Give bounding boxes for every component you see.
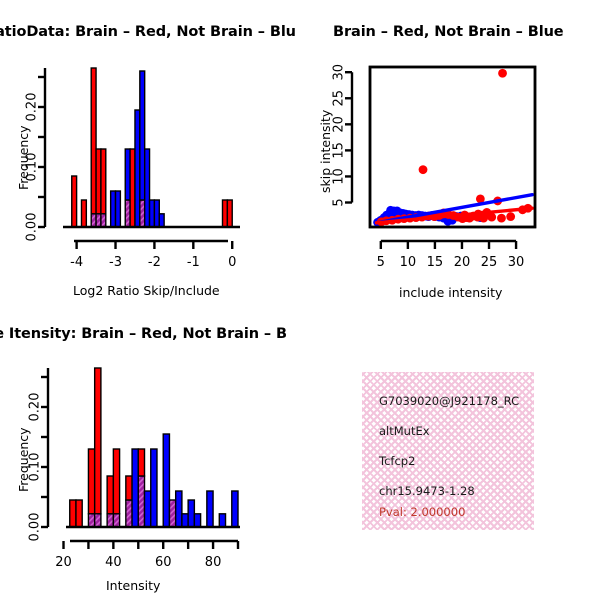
hist-bar (126, 500, 132, 527)
y-tick-label: 0.10 (25, 153, 40, 182)
y-tick-label: 10 (332, 168, 347, 185)
scatter-xlabel: include intensity (399, 285, 502, 300)
hist-bar (140, 200, 145, 227)
hist-bar (132, 449, 138, 527)
scatter-plot: 5510101515202025253030 (300, 55, 600, 265)
x-tick-label: 20 (454, 255, 471, 270)
scatter-point (506, 212, 515, 221)
y-tick-label: 30 (332, 64, 347, 81)
scatter-point (497, 214, 506, 223)
info-event-type: altMutEx (379, 424, 430, 438)
hist-bar (116, 191, 121, 227)
scatter-point (393, 206, 402, 215)
info-gene: Tcfcp2 (379, 454, 415, 468)
y-tick-label: 0.00 (25, 213, 40, 242)
scatter-point (479, 214, 488, 223)
hist-bar (126, 476, 132, 500)
x-tick-label: 15 (427, 255, 444, 270)
hist-intensity-title: ne Itensity: Brain – Red, Not Brain – B (0, 326, 287, 342)
scatter-point (498, 69, 507, 78)
x-tick-label: -4 (70, 255, 83, 270)
y-tick-label: 15 (332, 142, 347, 159)
hist-bar (72, 176, 77, 227)
x-tick-label: 25 (481, 255, 498, 270)
hist-bar (227, 200, 232, 227)
y-tick-label: 0.20 (25, 93, 40, 122)
hist-bar (154, 200, 159, 227)
scatter-title: Brain – Red, Not Brain – Blue (333, 24, 564, 40)
hist-bar (96, 149, 101, 214)
hist-bar (163, 434, 169, 527)
hist-bar (81, 200, 86, 227)
x-tick-label: 80 (205, 555, 222, 570)
info-box: G7039020@J921178_RC altMutEx Tcfcp2 chr1… (362, 372, 534, 530)
hist-intensity-plot: 0.000.100.2020406080 (0, 355, 260, 565)
hist-bar (88, 449, 94, 514)
scatter-point (419, 165, 428, 174)
x-tick-label: 40 (105, 555, 122, 570)
x-tick-label: 30 (508, 255, 525, 270)
plot-frame (370, 67, 535, 227)
info-pval: Pval: 2.000000 (379, 505, 465, 519)
x-tick-label: 0 (228, 255, 236, 270)
hist-bar (113, 514, 119, 527)
hist-bar (125, 200, 130, 227)
x-tick-label: 20 (55, 555, 72, 570)
hist-bar (188, 500, 194, 527)
y-tick-label: 5 (332, 198, 347, 206)
hist-bar (95, 368, 101, 514)
hist-bar (151, 449, 157, 527)
hist-bar (101, 149, 106, 214)
hist-ratio-plot: 0.000.100.20-4-3-2-10 (0, 55, 260, 265)
hist-bar (145, 149, 150, 227)
hist-bar (96, 214, 101, 227)
info-probe-id: G7039020@J921178_RC (379, 394, 519, 408)
hist-bar (207, 491, 213, 527)
hist-bar (125, 149, 130, 200)
hist-bar (169, 500, 175, 527)
hist-bar (194, 514, 200, 527)
hist-bar (101, 214, 106, 227)
hist-bar (182, 514, 188, 527)
hist-ratio-title: RatioData: Brain – Red, Not Brain – Blu (0, 24, 296, 40)
hist-bar (113, 449, 119, 514)
hist-bar (219, 514, 225, 527)
hist-bar (222, 200, 227, 227)
hist-bar (138, 449, 144, 476)
x-tick-label: 5 (377, 255, 385, 270)
hist-bar (159, 214, 164, 227)
y-tick-label: 20 (332, 116, 347, 133)
hist-ratio-xlabel: Log2 Ratio Skip/Include (73, 283, 220, 298)
hist-bar (150, 200, 155, 227)
hist-bar (91, 68, 96, 214)
y-tick-label: 0.00 (28, 513, 43, 542)
y-tick-label: 0.20 (28, 393, 43, 422)
hist-bar (130, 149, 135, 227)
x-tick-label: 60 (155, 555, 172, 570)
hist-bar (145, 491, 151, 527)
y-tick-label: 25 (332, 90, 347, 107)
hist-bar (107, 476, 113, 514)
x-tick-label: 10 (400, 255, 417, 270)
y-tick-label: 0.10 (28, 453, 43, 482)
hist-bar (70, 500, 76, 527)
hist-bar (76, 500, 82, 527)
hist-bar (232, 491, 238, 527)
x-tick-label: -1 (187, 255, 200, 270)
hist-bar (91, 214, 96, 227)
hist-bar (95, 514, 101, 527)
x-tick-label: -3 (109, 255, 122, 270)
x-tick-label: -2 (148, 255, 161, 270)
hist-bar (111, 191, 116, 227)
hist-bar (88, 514, 94, 527)
hist-bar (140, 71, 145, 200)
hist-intensity-xlabel: Intensity (106, 578, 160, 593)
hist-bar (176, 491, 182, 527)
hist-bar (138, 476, 144, 527)
hist-bar (135, 110, 140, 227)
info-locus: chr15.9473-1.28 (379, 484, 475, 498)
hist-bar (107, 514, 113, 527)
